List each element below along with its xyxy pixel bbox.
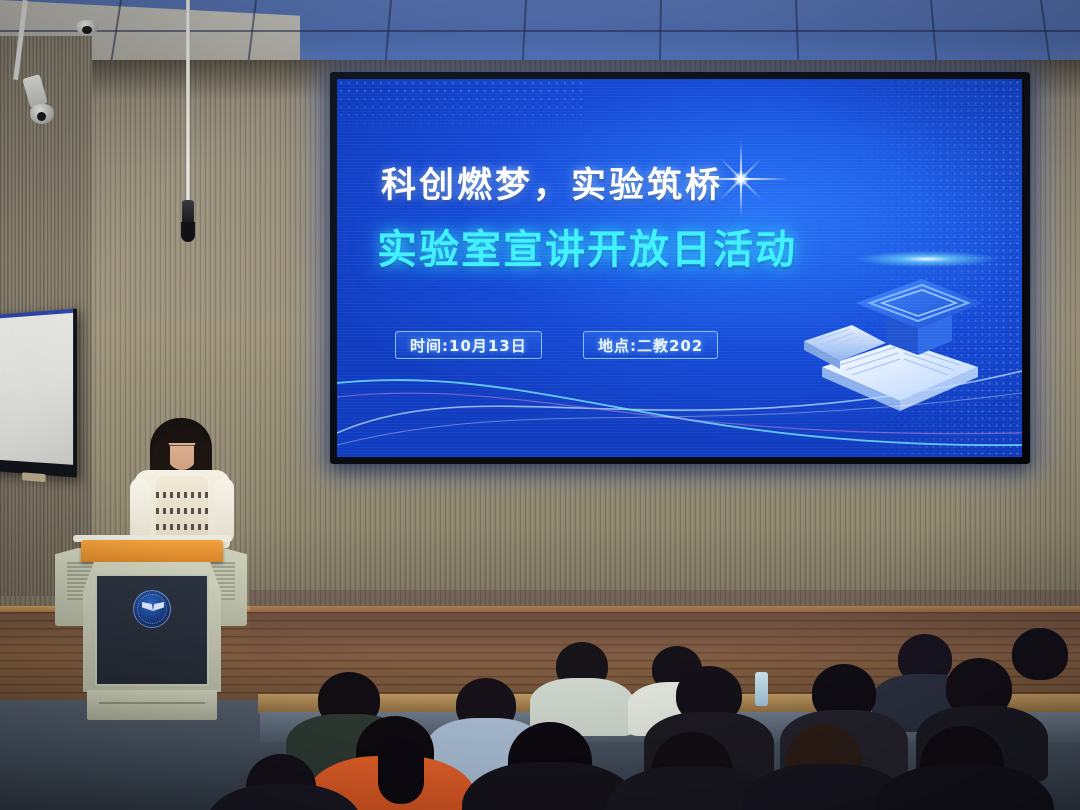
display-screen-surface <box>0 313 73 465</box>
light-streak <box>857 251 997 267</box>
presentation-slide[interactable]: 科创燃梦，实验筑桥 实验室宣讲开放日活动 时间:10月13日 地点:二教202 <box>337 79 1022 457</box>
seated-audience <box>0 580 1080 810</box>
list-item <box>378 730 424 804</box>
presenter-hair-front <box>164 426 200 443</box>
presenter-vest-pattern-2 <box>156 508 208 514</box>
list-item <box>1012 628 1068 680</box>
presenter-vest-pattern-1 <box>156 492 208 498</box>
lectern-desk-top <box>81 540 223 562</box>
water-bottle-on-desk <box>755 672 768 706</box>
presenter-vest-pattern-3 <box>156 524 208 530</box>
slide-dot-pattern-top <box>337 79 587 139</box>
slide-info-time: 时间:10月13日 <box>395 331 542 359</box>
slide-title: 科创燃梦，实验筑桥 <box>381 157 723 208</box>
slide-info-location: 地点:二教202 <box>583 331 718 359</box>
slide-subtitle: 实验室宣讲开放日活动 <box>377 217 797 275</box>
lecture-hall-photo: 科创燃梦，实验筑桥 实验室宣讲开放日活动 时间:10月13日 地点:二教202 <box>0 0 1080 810</box>
wall-mounted-display[interactable] <box>0 308 77 477</box>
led-screen-bezel: 科创燃梦，实验筑桥 实验室宣讲开放日活动 时间:10月13日 地点:二教202 <box>330 72 1030 464</box>
